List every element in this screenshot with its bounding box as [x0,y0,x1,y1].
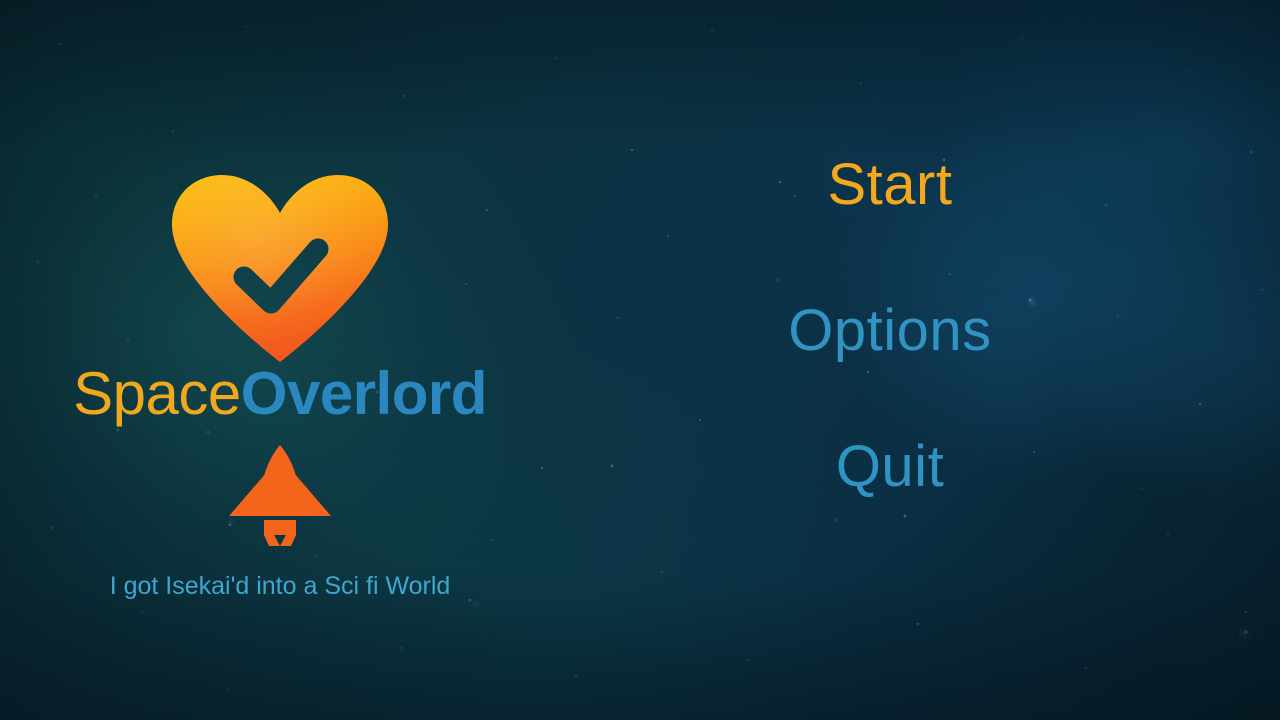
title-word-overlord: Overlord [241,360,487,427]
menu-item-options[interactable]: Options [735,302,1045,360]
game-main-menu-screen: SpaceOverlord I got Isekai [0,0,1280,720]
rocket-icon [226,443,334,548]
game-tagline: I got Isekai'd into a Sci fi World [80,570,480,603]
title-word-space: Space [73,360,241,427]
menu-item-start[interactable]: Start [735,156,1045,214]
menu-item-quit[interactable]: Quit [735,438,1045,496]
heart-check-icon [170,173,390,363]
game-branding-block: SpaceOverlord I got Isekai [0,0,560,720]
page-title: SpaceOverlord [0,364,560,424]
main-menu-list: Start Options Quit [735,120,1045,540]
